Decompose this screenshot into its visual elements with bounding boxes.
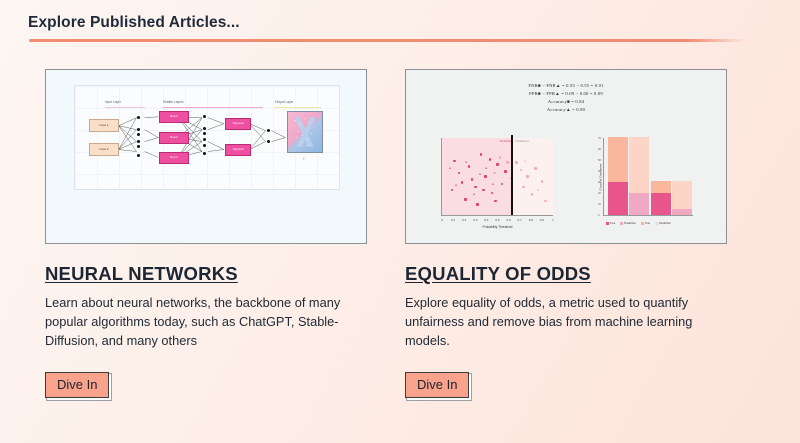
formula-line-accuracy-triangle: Accuracy▲ = 0.80: [528, 106, 603, 114]
scatter-xtick: 0.7: [518, 218, 522, 222]
dive-in-button-equality-of-odds[interactable]: Dive In: [405, 372, 469, 398]
bar-ytick: 30: [598, 181, 601, 184]
card-title-equality-of-odds[interactable]: EQUALITY OF ODDS: [405, 263, 727, 285]
node-hidden-1: ReLU: [159, 111, 189, 123]
card-description-neural-networks: Learn about neural networks, the backbon…: [45, 294, 360, 351]
thumbnail-neural-networks[interactable]: Input Layer Hidden Layers Output Layer: [45, 69, 367, 244]
node-hidden-3: ReLU: [159, 152, 189, 164]
decision-boundary-shape: [293, 117, 317, 147]
scatter-xtick: 0.1: [451, 218, 455, 222]
article-card-neural-networks: Input Layer Hidden Layers Output Layer: [45, 69, 367, 398]
scatter-xtick: 0.5: [495, 218, 499, 222]
legend-item-prediction-a: Prediction: [620, 222, 636, 225]
node-hidden-2: ReLU: [159, 132, 189, 144]
bar-prediction-group-a: [629, 137, 649, 215]
card-description-equality-of-odds: Explore equality of odds, a metric used …: [405, 294, 720, 351]
neural-network-canvas: Input Layer Hidden Layers Output Layer: [46, 70, 366, 243]
bar-ytick: 60: [598, 148, 601, 151]
equality-of-odds-canvas: FNR■ − FNR▲ = 0.55 − 0.55 = 0.01 FPR■ − …: [406, 70, 726, 243]
bar-ytick: 50: [598, 159, 601, 162]
scatter-xtick: 0.2: [462, 218, 466, 222]
output-caption: y: [303, 156, 305, 160]
bar-ytick: 70: [598, 137, 601, 140]
bar-true-group-a: [608, 137, 628, 215]
scatter-xtick: 1: [552, 218, 554, 222]
scatter-xtick: 0.6: [507, 218, 511, 222]
scatter-x-axis-label: Probability Threshold: [483, 225, 513, 229]
scatter-xtick: 0.8: [529, 218, 533, 222]
neural-network-plot: Input Layer Hidden Layers Output Layer: [74, 85, 340, 190]
node-output-1: Sigmoid: [225, 118, 251, 130]
thumbnail-equality-of-odds[interactable]: FNR■ − FNR▲ = 0.55 − 0.55 = 0.01 FPR■ − …: [405, 69, 727, 244]
threshold-scatter-plot: Predicted 1 Predicted 0 0 0.1 0.2 0.3 0.…: [441, 138, 553, 216]
bar-chart-y-axis-label: Count of Outcomes: [598, 163, 602, 190]
bar-true-group-b: [651, 181, 671, 215]
dive-in-button-neural-networks[interactable]: Dive In: [45, 372, 109, 398]
scatter-region-predicted-0: [512, 138, 553, 215]
bar-ytick: 40: [598, 170, 601, 173]
legend-item-true-b: True: [641, 222, 650, 225]
legend-item-true-a: True: [606, 222, 615, 225]
outcome-bar-chart: Count of Outcomes 0 10 20 30 40 50 60 70: [603, 138, 693, 216]
bar-ytick: 10: [598, 203, 601, 206]
scatter-xtick: 0.4: [484, 218, 488, 222]
scatter-xtick: 0: [441, 218, 443, 222]
node-input-2: Input 2: [89, 143, 119, 156]
bar-prediction-group-b: [672, 181, 692, 215]
node-output-2: Sigmoid: [225, 144, 251, 156]
formula-line-accuracy-square: Accuracy■ = 0.84: [528, 98, 603, 106]
output-visualization-panel: [287, 111, 323, 153]
legend-item-prediction-b: Prediction: [655, 222, 671, 225]
formula-line-fnr: FNR■ − FNR▲ = 0.55 − 0.55 = 0.01: [528, 82, 603, 90]
scatter-annotation-predicted-0: Predicted 0: [515, 140, 529, 143]
page-header: Explore Published Articles...: [0, 0, 800, 42]
scatter-xtick: 0.3: [473, 218, 477, 222]
card-title-neural-networks[interactable]: NEURAL NETWORKS: [45, 263, 367, 285]
article-card-equality-of-odds: FNR■ − FNR▲ = 0.55 − 0.55 = 0.01 FPR■ − …: [405, 69, 727, 398]
article-card-list: Input Layer Hidden Layers Output Layer: [0, 42, 800, 398]
metrics-formula-block: FNR■ − FNR▲ = 0.55 − 0.55 = 0.01 FPR■ − …: [528, 82, 603, 114]
bar-ytick: 20: [598, 192, 601, 195]
bar-chart-legend: True Prediction True Prediction: [606, 222, 671, 225]
page-title: Explore Published Articles...: [28, 14, 800, 32]
bar-ytick: 0: [598, 214, 599, 217]
formula-line-fpr: FPR■ − FPR▲ = 0.09 − 0.00 = 0.09: [528, 90, 603, 98]
node-input-1: Input 1: [89, 119, 119, 132]
scatter-xtick: 0.9: [540, 218, 544, 222]
probability-threshold-line[interactable]: [511, 135, 513, 215]
